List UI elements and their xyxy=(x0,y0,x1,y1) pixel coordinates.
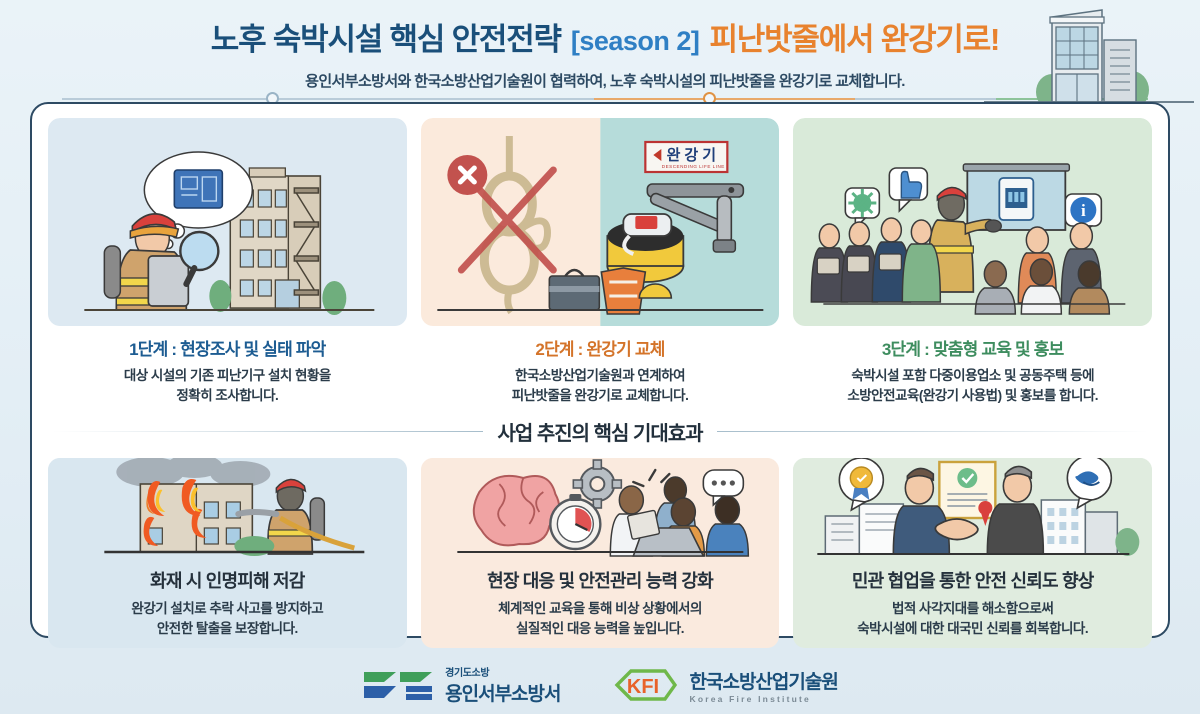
effects-row: 화재 시 인명피해 저감 완강기 설치로 추락 사고를 방지하고 안전한 탈출을… xyxy=(48,458,1152,648)
step-card-1-desc-line1: 대상 시설의 기존 피난기구 설치 현황을 xyxy=(124,366,331,386)
step-card-3-desc: 숙박시설 포함 다중이용업소 및 공동주택 등에 소방안전교육(완강기 사용법)… xyxy=(847,366,1098,405)
logo2-korean-text: 한국소방산업기술원 xyxy=(690,667,838,694)
mid-section-title: 사업 추진의 핵심 기대효과 xyxy=(497,417,702,446)
page-header: 노후 숙박시설 핵심 안전전략 [season 2] 피난밧줄에서 완강기로! … xyxy=(0,0,1200,108)
step-card-3-title: 3단계 : 맞춤형 교육 및 홍보 xyxy=(882,335,1064,360)
effect-card-2-desc-line1: 체계적인 교육을 통해 비상 상황에서의 xyxy=(498,599,702,619)
effect-card-3-desc: 법적 사각지대를 해소함으로써 숙박시설에 대한 대국민 신뢰를 회복합니다. xyxy=(857,599,1088,638)
effect-card-2-title: 현장 대응 및 안전관리 능력 강화 xyxy=(487,567,713,593)
svg-text:DESCENDING LIFE LINE: DESCENDING LIFE LINE xyxy=(661,164,724,169)
effect-card-1-desc-line2: 안전한 탈출을 보장합니다. xyxy=(131,619,323,639)
title-season: [season 2] xyxy=(571,26,700,57)
step-card-3[interactable]: i xyxy=(793,118,1152,405)
step-card-2[interactable]: 완강기 DESCENDING LIFE LINE xyxy=(421,118,780,405)
divider-left xyxy=(52,431,483,432)
effect-card-3-desc-line2: 숙박시설에 대한 대국민 신뢰를 회복합니다. xyxy=(857,619,1088,639)
effect-card-1-desc: 완강기 설치로 추락 사고를 방지하고 안전한 탈출을 보장합니다. xyxy=(131,599,323,638)
korea-fire-institute-logo: KFI 한국소방산업기술원 Korea Fire Institute xyxy=(607,667,838,704)
step-card-1-desc-line2: 정확히 조사합니다. xyxy=(124,386,331,406)
effect-card-1[interactable]: 화재 시 인명피해 저감 완강기 설치로 추락 사고를 방지하고 안전한 탈출을… xyxy=(48,458,407,648)
step-card-3-desc-line2: 소방안전교육(완강기 사용법) 및 홍보를 합니다. xyxy=(847,386,1098,406)
step-card-1-title: 1단계 : 현장조사 및 실태 파악 xyxy=(129,335,325,360)
public-private-handshake-illustration xyxy=(793,458,1152,558)
title-main: 노후 숙박시설 핵심 안전전략 xyxy=(211,14,561,59)
firefighter-inspection-illustration xyxy=(48,118,407,326)
logo1-small-text: 경기도소방 xyxy=(445,664,560,679)
effect-card-2-desc: 체계적인 교육을 통해 비상 상황에서의 실질적인 대응 능력을 높입니다. xyxy=(498,599,702,638)
logo1-large-text: 용인서부소방서 xyxy=(445,679,560,706)
svg-text:KFI: KFI xyxy=(626,676,658,698)
team-capability-illustration xyxy=(421,458,780,558)
step-card-2-title: 2단계 : 완강기 교체 xyxy=(535,335,664,360)
gyeonggi-fire-mark-icon xyxy=(362,668,436,702)
effect-card-1-title: 화재 시 인명피해 저감 xyxy=(150,567,304,593)
title-accent: 피난밧줄에서 완강기로! xyxy=(709,14,999,59)
step-card-1[interactable]: 1단계 : 현장조사 및 실태 파악 대상 시설의 기존 피난기구 설치 현황을… xyxy=(48,118,407,405)
step-card-3-desc-line1: 숙박시설 포함 다중이용업소 및 공동주택 등에 xyxy=(847,366,1098,386)
effect-card-3-desc-line1: 법적 사각지대를 해소함으로써 xyxy=(857,599,1088,619)
effect-card-3-title: 민관 협업을 통한 안전 신뢰도 향상 xyxy=(852,567,1094,593)
steps-row: 1단계 : 현장조사 및 실태 파악 대상 시설의 기존 피난기구 설치 현황을… xyxy=(48,118,1152,405)
safety-training-session-illustration: i xyxy=(793,118,1152,326)
step-card-2-desc-line1: 한국소방산업기술원과 연계하여 xyxy=(512,366,689,386)
effect-card-1-desc-line1: 완강기 설치로 추락 사고를 방지하고 xyxy=(131,599,323,619)
yongin-west-fire-station-logo: 경기도소방 용인서부소방서 xyxy=(362,664,560,706)
footer-logos: 경기도소방 용인서부소방서 KFI 한국소방산업기술원 Korea Fire I… xyxy=(0,664,1200,706)
effect-card-2-desc-line2: 실질적인 대응 능력을 높입니다. xyxy=(498,619,702,639)
divider-right xyxy=(717,431,1148,432)
office-building-illustration xyxy=(984,0,1194,108)
building-fire-rescue-illustration xyxy=(48,458,407,558)
rope-to-descending-lifeline-illustration: 완강기 DESCENDING LIFE LINE xyxy=(421,118,780,326)
effect-card-3[interactable]: 민관 협업을 통한 안전 신뢰도 향상 법적 사각지대를 해소함으로써 숙박시설… xyxy=(793,458,1152,648)
step-card-2-desc-line2: 피난밧줄을 완강기로 교체합니다. xyxy=(512,386,689,406)
step-card-1-desc: 대상 시설의 기존 피난기구 설치 현황을 정확히 조사합니다. xyxy=(124,366,331,405)
svg-text:완강기: 완강기 xyxy=(666,146,719,164)
effect-card-2[interactable]: 현장 대응 및 안전관리 능력 강화 체계적인 교육을 통해 비상 상황에서의 … xyxy=(421,458,780,648)
main-panel: 1단계 : 현장조사 및 실태 파악 대상 시설의 기존 피난기구 설치 현황을… xyxy=(30,102,1170,638)
svg-text:i: i xyxy=(1081,201,1086,220)
mid-section-divider: 사업 추진의 핵심 기대효과 xyxy=(52,417,1148,446)
kfi-mark-icon: KFI xyxy=(607,667,681,703)
step-card-2-desc: 한국소방산업기술원과 연계하여 피난밧줄을 완강기로 교체합니다. xyxy=(512,366,689,405)
logo2-english-text: Korea Fire Institute xyxy=(690,694,838,704)
